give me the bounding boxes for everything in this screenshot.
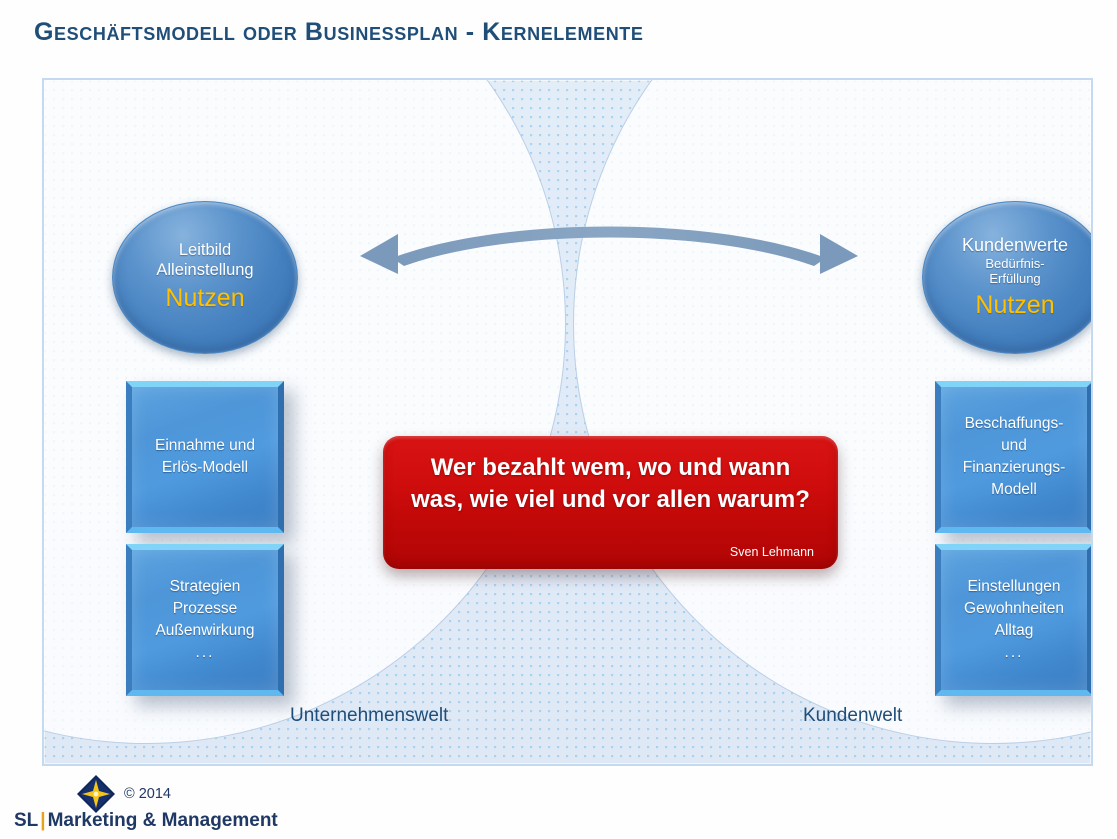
- box-line: Einnahme und: [155, 435, 255, 457]
- circle-unternehmenswelt: [42, 78, 566, 744]
- box-ellipsis: ...: [1005, 642, 1024, 664]
- ellipse-right-line2: Bedürfnis-: [985, 256, 1044, 271]
- callout-text-block: Wer bezahlt wem, wo und wann was, wie vi…: [401, 452, 820, 516]
- box-beschaffungs-finanzierungs-modell[interactable]: Beschaffungs- und Finanzierungs- Modell: [935, 381, 1093, 533]
- brand-full-name: Marketing & Management: [48, 810, 278, 831]
- box-line: und: [1001, 435, 1027, 457]
- ellipse-kundenwerte[interactable]: Kundenwerte Bedürfnis- Erfüllung Nutzen: [922, 201, 1093, 354]
- page-title: Geschäftsmodell oder Businessplan - Kern…: [34, 18, 644, 47]
- box-line: Gewohnheiten: [964, 598, 1064, 620]
- red-question-callout[interactable]: Wer bezahlt wem, wo und wann was, wie vi…: [383, 436, 838, 569]
- ellipse-right-highlight: Nutzen: [975, 291, 1054, 321]
- copyright-text: © 2014: [124, 786, 171, 802]
- box-line: Einstellungen: [967, 576, 1060, 598]
- label-unternehmenswelt: Unternehmenswelt: [290, 705, 448, 727]
- box-line: Prozesse: [173, 598, 238, 620]
- box-line: Beschaffungs-: [965, 413, 1064, 435]
- ellipse-right-line1: Kundenwerte: [962, 235, 1068, 256]
- label-kundenwelt: Kundenwelt: [803, 705, 902, 727]
- ellipse-left-highlight: Nutzen: [165, 284, 244, 314]
- box-line: Modell: [991, 479, 1037, 501]
- footer: © 2014 SL|Marketing & Management: [0, 772, 420, 839]
- box-einnahme-erloes-modell[interactable]: Einnahme und Erlös-Modell: [126, 381, 284, 533]
- box-einstellungen-gewohnheiten[interactable]: Einstellungen Gewohnheiten Alltag ...: [935, 544, 1093, 696]
- box-strategien-prozesse[interactable]: Strategien Prozesse Außenwirkung ...: [126, 544, 284, 696]
- double-headed-curved-arrow-icon: [344, 212, 874, 292]
- callout-author: Sven Lehmann: [730, 545, 820, 561]
- box-line: Finanzierungs-: [963, 457, 1066, 479]
- callout-line2: was, wie viel und vor allen warum?: [401, 484, 820, 516]
- brand-name: SL|Marketing & Management: [14, 810, 278, 832]
- ellipse-leitbild[interactable]: Leitbild Alleinstellung Nutzen: [112, 201, 298, 354]
- ellipse-left-line2: Alleinstellung: [156, 261, 253, 280]
- brand-separator: |: [38, 810, 47, 831]
- ellipse-left-line1: Leitbild: [179, 241, 231, 260]
- box-line: Strategien: [170, 576, 241, 598]
- diagram-panel: Leitbild Alleinstellung Nutzen Kundenwer…: [42, 78, 1093, 766]
- ellipse-right-line3: Erfüllung: [989, 271, 1040, 286]
- box-line: Alltag: [995, 620, 1034, 642]
- diamond-star-logo-icon: [76, 774, 116, 814]
- box-line: Außenwirkung: [155, 620, 254, 642]
- box-ellipsis: ...: [196, 642, 215, 664]
- box-line: Erlös-Modell: [162, 457, 248, 479]
- brand-initials: SL: [14, 810, 38, 831]
- callout-line1: Wer bezahlt wem, wo und wann: [401, 452, 820, 484]
